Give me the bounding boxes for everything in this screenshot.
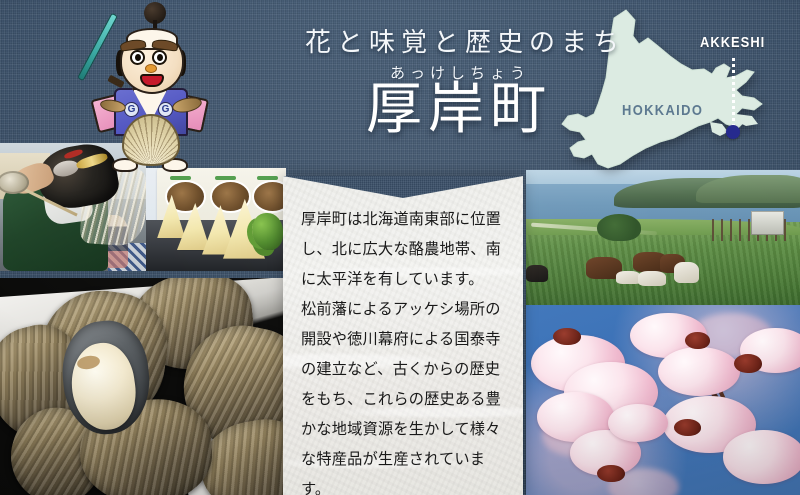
cherry-blossom-photo bbox=[526, 305, 800, 495]
cheese-photo bbox=[146, 168, 286, 271]
page-title: 厚岸町 bbox=[0, 78, 800, 142]
tagline: 花と味覚と歴史のまち bbox=[0, 22, 800, 59]
pasture-photo bbox=[526, 170, 800, 306]
description-text: 厚岸町は北海道南東部に位置し、北に広大な酪農地帯、南に太平洋を有しています。 松… bbox=[301, 204, 509, 495]
akkeshi-town-banner: HOKKAIDO AKKESHI G G 花と味覚と歴史のまち bbox=[0, 0, 800, 495]
oyster-photo bbox=[0, 278, 287, 495]
